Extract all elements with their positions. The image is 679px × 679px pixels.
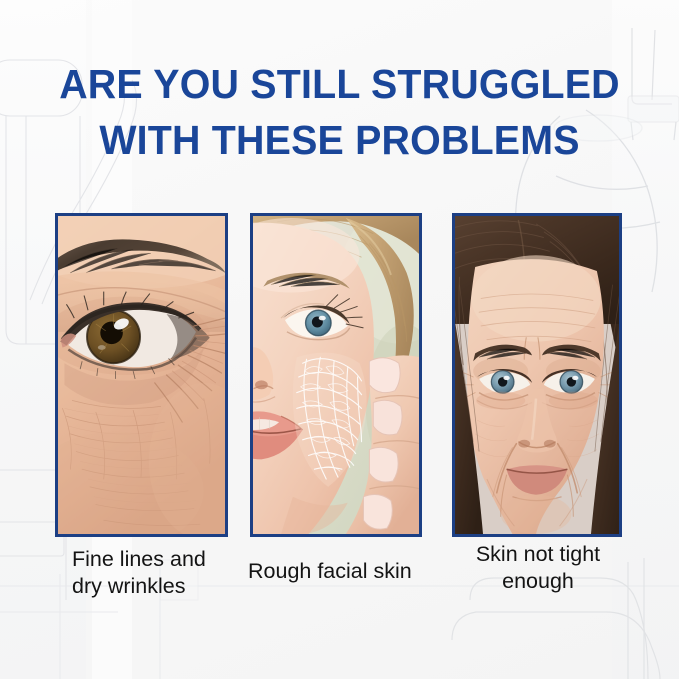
promo-poster: ARE YOU STILL STRUGGLED WITH THESE PROBL… xyxy=(0,0,679,679)
caption-skin-not-tight: Skin not tight enough xyxy=(452,541,624,595)
dry-cracked-cheek-skin-photo xyxy=(253,216,419,534)
aging-eye-crows-feet-photo xyxy=(58,216,225,534)
sagging-facial-skin-photo xyxy=(455,216,619,534)
panel-sagging-skin xyxy=(452,213,622,537)
caption-rough-skin: Rough facial skin xyxy=(248,558,443,585)
headline-line-1: ARE YOU STILL STRUGGLED xyxy=(14,56,666,112)
panel-rough-skin xyxy=(250,213,422,537)
problem-panels xyxy=(0,213,679,537)
caption-fine-lines: Fine lines and dry wrinkles xyxy=(72,546,257,600)
headline: ARE YOU STILL STRUGGLED WITH THESE PROBL… xyxy=(0,56,679,168)
headline-line-2: WITH THESE PROBLEMS xyxy=(14,112,666,168)
panel-eye-wrinkles xyxy=(55,213,228,537)
